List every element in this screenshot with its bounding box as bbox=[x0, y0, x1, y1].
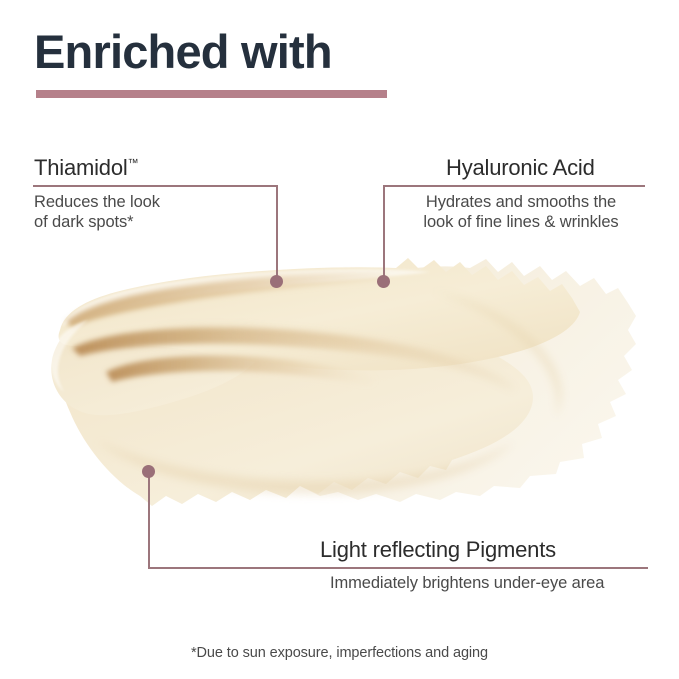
callout-subtitle-hyaluronic-acid-line2: look of fine lines & wrinkles bbox=[393, 212, 649, 232]
leader-line-vertical-light-reflecting-pigments bbox=[148, 472, 150, 568]
leader-line-horizontal-light-reflecting-pigments bbox=[148, 567, 648, 569]
callout-title-light-reflecting-pigments: Light reflecting Pigments bbox=[320, 537, 556, 563]
leader-dot-thiamidol bbox=[270, 275, 283, 288]
callout-title-text: Thiamidol bbox=[34, 155, 128, 180]
leader-dot-light-reflecting-pigments bbox=[142, 465, 155, 478]
trademark-symbol: ™ bbox=[128, 158, 139, 170]
leader-line-horizontal-hyaluronic-acid bbox=[383, 185, 645, 187]
leader-dot-hyaluronic-acid bbox=[377, 275, 390, 288]
callout-title-thiamidol: Thiamidol™ bbox=[34, 155, 139, 181]
leader-line-vertical-thiamidol bbox=[276, 185, 278, 282]
footnote-text: *Due to sun exposure, imperfections and … bbox=[0, 645, 679, 661]
callout-title-hyaluronic-acid: Hyaluronic Acid bbox=[446, 155, 595, 181]
enriched-with-infographic: Enriched with bbox=[0, 0, 679, 679]
leader-line-vertical-hyaluronic-acid bbox=[383, 185, 385, 282]
title-underline-rule bbox=[36, 90, 387, 98]
callout-subtitle-light-reflecting-pigments-line1: Immediately brightens under-eye area bbox=[330, 573, 604, 593]
callout-subtitle-thiamidol-line2: of dark spots* bbox=[34, 212, 134, 232]
page-title: Enriched with bbox=[34, 26, 332, 78]
callout-subtitle-thiamidol-line1: Reduces the look bbox=[34, 192, 160, 212]
leader-line-horizontal-thiamidol bbox=[33, 185, 278, 187]
callout-subtitle-hyaluronic-acid-line1: Hydrates and smooths the bbox=[393, 192, 649, 212]
